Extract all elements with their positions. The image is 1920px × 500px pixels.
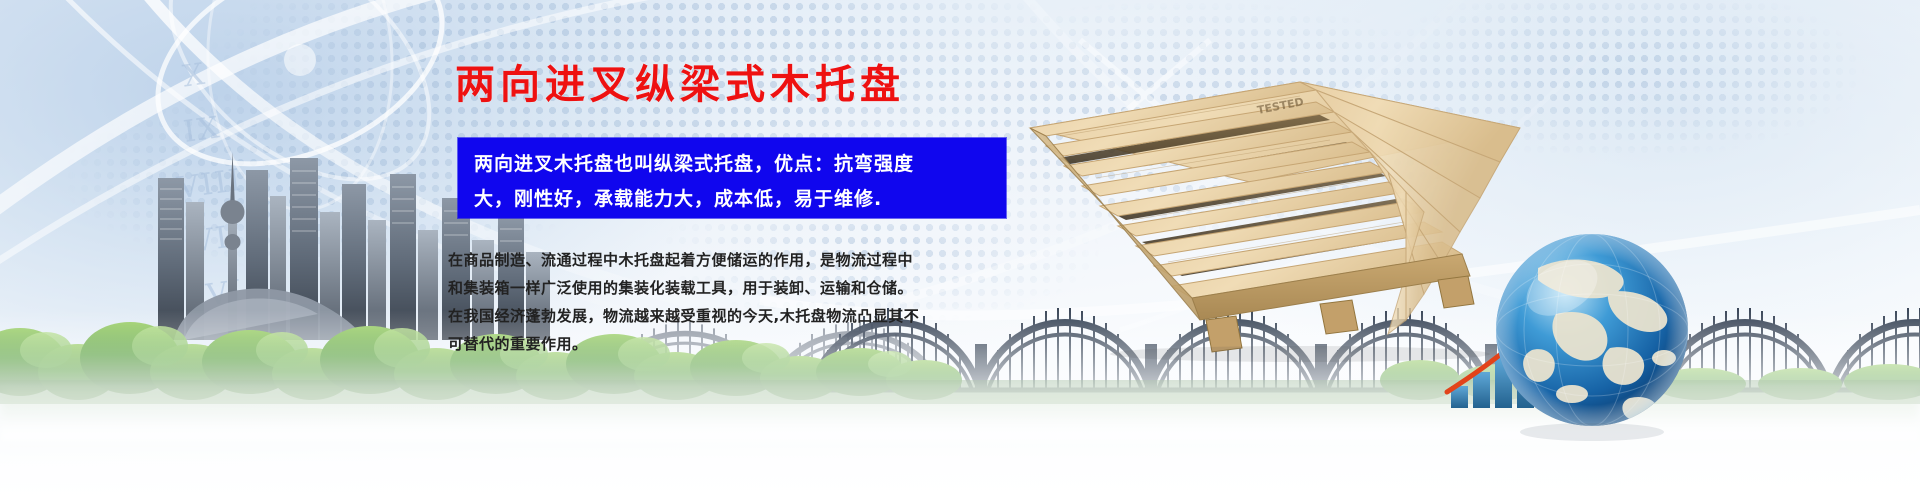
roman-numeral: VI	[205, 276, 246, 311]
page-title: 两向进叉纵梁式木托盘	[455, 52, 905, 110]
chart-trend-arrow-line	[1447, 322, 1539, 392]
steel-arch-bridge-silhouette	[0, 290, 1920, 400]
product-banner: X IX VIII VII VI	[0, 0, 1920, 500]
background-glow-right	[1120, 0, 1920, 420]
decorative-swoosh-lines	[0, 0, 1920, 500]
wooden-pallet-photo: TESTED	[1000, 62, 1560, 362]
description-line-2: 和集装箱一样广泛使用的集装化装载工具，用于装卸、运输和仓储。	[448, 274, 908, 302]
blue-earth-globe	[1480, 218, 1710, 448]
description-line-3: 在我国经济蓬勃发展，物流越来越受重视的今天,木托盘物流凸显其不	[448, 302, 908, 330]
roman-numeral: VII	[190, 221, 245, 258]
highlight-line-1: 两向进叉木托盘也叫纵梁式托盘，优点：抗弯强度	[474, 147, 992, 182]
description-line-1: 在商品制造、流通过程中木托盘起着方便储运的作用，是物流过程中	[448, 246, 908, 274]
highlight-callout-box: 两向进叉木托盘也叫纵梁式托盘，优点：抗弯强度 大，刚性好，承载能力大，成本低，易…	[458, 138, 1006, 218]
roman-numeral: X	[181, 60, 208, 93]
growth-bar-chart	[1435, 300, 1575, 410]
greenery-reflection	[0, 390, 1920, 460]
chart-trend-arrow-head	[1535, 314, 1555, 334]
roman-numeral: IX	[182, 113, 223, 148]
product-description: 在商品制造、流通过程中木托盘起着方便储运的作用，是物流过程中 和集装箱一样广泛使…	[448, 246, 908, 358]
bottom-white-fade	[0, 310, 1920, 500]
water-horizon-line	[0, 416, 1920, 442]
globe-landmasses	[1523, 259, 1676, 421]
pallet-stencil-text: TESTED	[1256, 95, 1305, 117]
description-line-4: 可替代的重要作用。	[448, 330, 908, 358]
roman-numeral-watermark: X IX VIII VII VI	[123, 51, 296, 318]
chart-bars	[1451, 328, 1556, 408]
green-tree-band	[0, 284, 1920, 404]
highlight-line-2: 大，刚性好，承载能力大，成本低，易于维修.	[474, 182, 992, 217]
roman-numeral: VIII	[176, 166, 245, 205]
